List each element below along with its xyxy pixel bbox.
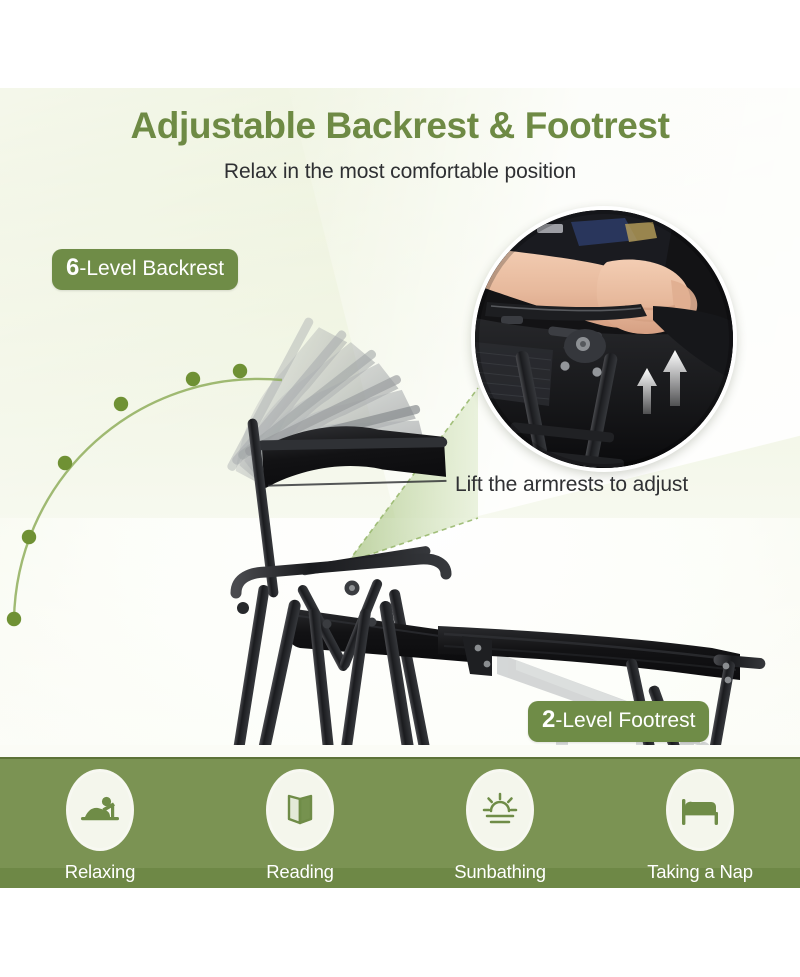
use-case-relaxing: Relaxing (15, 769, 185, 883)
badge-backrest-text: -Level Backrest (79, 257, 224, 280)
open-book-icon (281, 791, 319, 829)
top-margin (0, 0, 800, 88)
badge-footrest-levels: 2-Level Footrest (528, 701, 709, 742)
page-title: Adjustable Backrest & Footrest (0, 106, 800, 147)
level-dot-3 (58, 456, 72, 470)
level-dot-4 (114, 397, 128, 411)
nap-icon-badge (666, 769, 734, 851)
armrest-detail-photo (471, 206, 737, 472)
sunbathing-icon-badge (466, 769, 534, 851)
backrest-level-dots (7, 364, 247, 626)
footrest-hinge (462, 636, 492, 676)
caption-lift-armrests: Lift the armrests to adjust (455, 473, 688, 497)
use-case-reading: Reading (215, 769, 385, 883)
level-dot-6 (233, 364, 247, 378)
armrest-photo-art (475, 210, 733, 468)
badge-footrest-number: 2 (542, 706, 555, 733)
use-case-label: Reading (266, 861, 334, 883)
use-cases-list: Relaxing Reading (0, 759, 800, 890)
sun-icon (480, 791, 520, 829)
level-dot-1 (7, 612, 21, 626)
bottom-margin (0, 888, 800, 977)
badge-backrest-number: 6 (66, 254, 79, 281)
level-dot-2 (22, 530, 36, 544)
badge-backrest-levels: 6-Level Backrest (52, 249, 238, 290)
use-case-label: Taking a Nap (647, 861, 753, 883)
reading-icon-badge (266, 769, 334, 851)
use-case-label: Sunbathing (454, 861, 546, 883)
product-infographic: Adjustable Backrest & Footrest Relax in … (0, 0, 800, 977)
use-case-label: Relaxing (65, 861, 135, 883)
use-cases-band: Relaxing Reading (0, 757, 800, 890)
use-case-taking-a-nap: Taking a Nap (615, 769, 785, 883)
relaxing-icon-badge (66, 769, 134, 851)
use-case-sunbathing: Sunbathing (415, 769, 585, 883)
relaxing-lounger-icon (79, 793, 121, 827)
page-subtitle: Relax in the most comfortable position (0, 160, 800, 184)
badge-footrest-text: -Level Footrest (555, 709, 695, 732)
band-gap (0, 745, 800, 757)
bed-icon (679, 793, 721, 827)
level-dot-5 (186, 372, 200, 386)
